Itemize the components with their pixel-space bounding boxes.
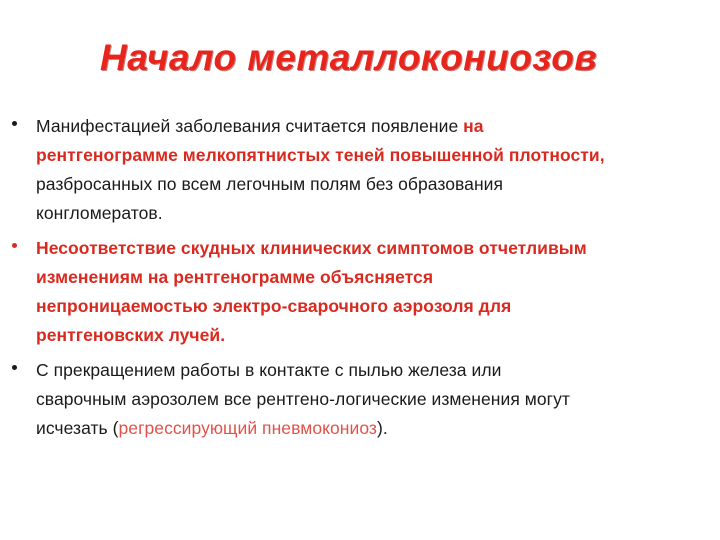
bullet-2-line-4: рентгеновских лучей.	[36, 325, 225, 345]
bullet-2-text: Несоответствие скудных клинических симпт…	[36, 234, 686, 350]
slide-canvas: Начало металлокониозов Манифестацией заб…	[0, 0, 720, 540]
bullet-1-line-1-red: на	[463, 116, 483, 136]
bullet-3-line-3-post: ).	[377, 418, 388, 438]
bullet-2-line-3: непроницаемостью электро-сварочного аэро…	[36, 296, 511, 316]
bullet-dot-icon	[12, 243, 17, 248]
bullet-1-line-4-black: конгломератов.	[36, 203, 163, 223]
bullet-3-line-3-pre: исчезать (	[36, 418, 119, 438]
bullet-dot-icon	[12, 365, 17, 370]
bullet-3-line-2: сварочным аэрозолем все рентгено-логичес…	[36, 389, 570, 409]
bullet-2-line-1: Несоответствие скудных клинических симпт…	[36, 238, 587, 258]
bullet-3-line-3-red: регрессирующий пневмокониоз	[119, 418, 377, 438]
slide-title: Начало металлокониозов	[100, 38, 700, 79]
bullet-3-text: С прекращением работы в контакте с пылью…	[36, 356, 686, 443]
bullet-dot-icon	[12, 121, 17, 126]
bullet-1-line-2-red: рентгенограмме мелкопятнистых теней повы…	[36, 145, 605, 165]
bullet-3-line-1: С прекращением работы в контакте с пылью…	[36, 360, 501, 380]
bullet-item-3: С прекращением работы в контакте с пылью…	[0, 356, 720, 443]
bullet-1-text: Манифестацией заболевания считается появ…	[36, 112, 676, 228]
slide-body-list: Манифестацией заболевания считается появ…	[0, 112, 720, 449]
bullet-1-line-1-black: Манифестацией заболевания считается появ…	[36, 116, 463, 136]
bullet-2-line-2: изменениям на рентгенограмме объясняется	[36, 267, 433, 287]
bullet-1-line-3-black: разбросанных по всем легочным полям без …	[36, 174, 503, 194]
bullet-item-2: Несоответствие скудных клинических симпт…	[0, 234, 720, 350]
bullet-item-1: Манифестацией заболевания считается появ…	[0, 112, 720, 228]
